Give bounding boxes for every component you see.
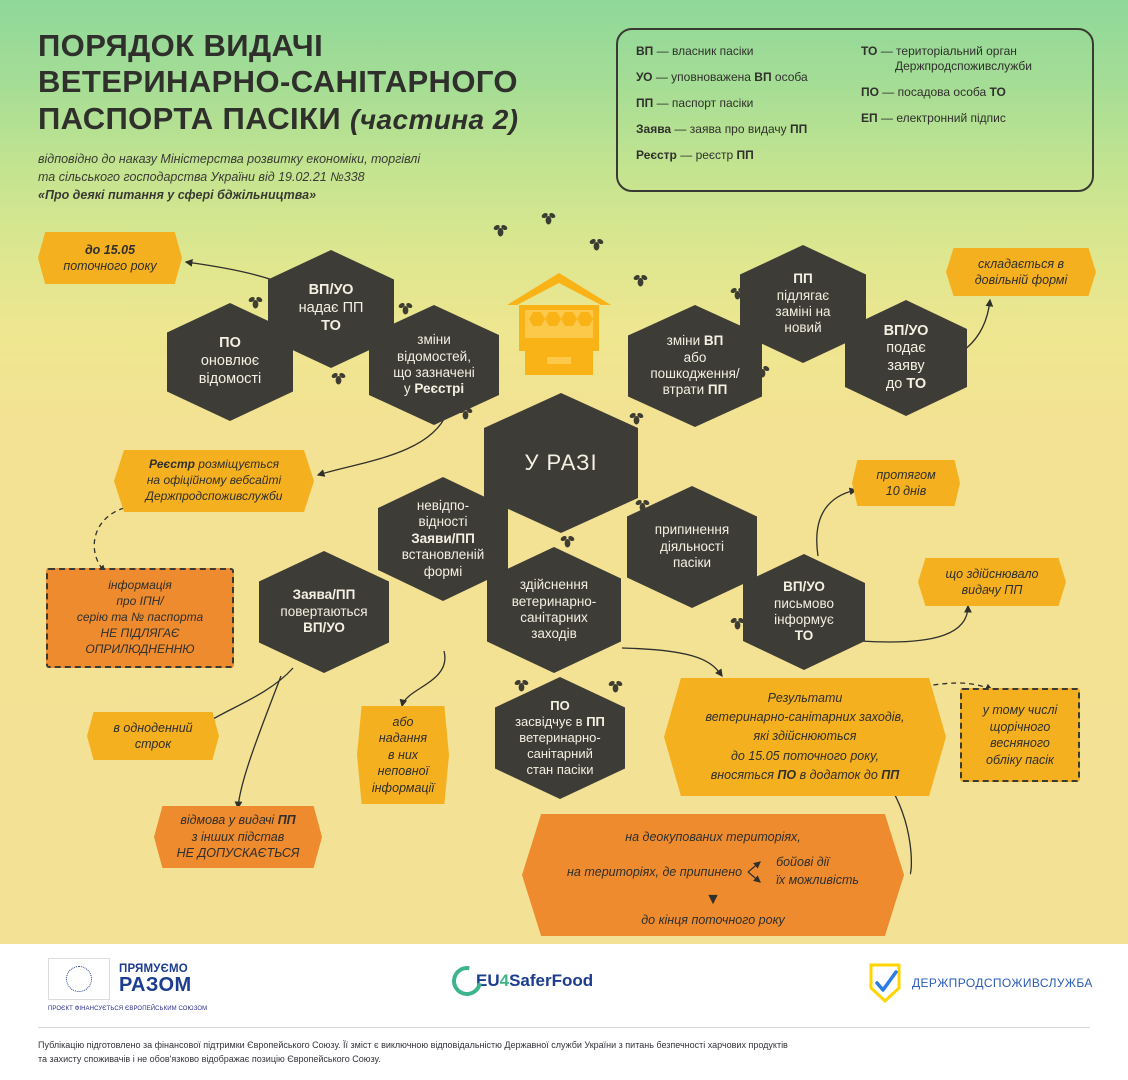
tag-ipn-not-published: інформація про ІПН/ серію та № паспорта … [46,568,234,668]
disclaimer-line-2: та захисту споживачів і не обов'язково в… [38,1053,1098,1067]
tag-incomplete-information: або надання в них неповної інформації [357,706,449,804]
tag-one-day-term: в одноденний строк [87,712,219,760]
beehive-icon [503,271,615,381]
bee-icon [588,236,605,253]
tag-registry-website: Реєстр розміщується на офіційному вебсай… [114,450,314,512]
hexagon-application-returned: Заява/ПП повертаються ВП/УО [259,551,389,673]
eu-together-logo: ПРЯМУЄМО РАЗОМ [48,958,192,1000]
legend-column-left: ВП — власник пасіки УО — уповноважена ВП… [636,44,851,180]
abbreviation-legend: ВП — власник пасіки УО — уповноважена ВП… [616,28,1094,192]
tag-within-10-days: протягом 10 днів [852,460,960,506]
legend-item-zayava: Заява — заява про видачу ПП [636,122,851,137]
subtitle: відповідно до наказу Міністерства розвит… [38,150,608,204]
bee-icon [628,410,645,427]
bee-icon [247,294,264,311]
bee-icon [607,678,624,695]
bee-icon [492,222,509,239]
tag-results-of-measures: Результати ветеринарно-санітарних заході… [664,678,946,796]
derzh-label: ДЕРЖПРОДСПОЖИВСЛУЖБА [912,976,1093,990]
derzhprodspozhyvsluzhba-logo: ДЕРЖПРОДСПОЖИВСЛУЖБА [868,962,1093,1004]
disclaimer-line-1: Публікацію підготовлено за фінансової пі… [38,1039,1098,1053]
eu4saferfood-logo: EU4SaferFood [452,966,593,996]
deocc-line-1: на деокупованих територіях, [540,830,886,844]
bee-icon [632,272,649,289]
tag-who-issued-pp: що здійснювало видачу ПП [918,558,1066,606]
deocc-line-3: до кінця поточного року [540,913,886,927]
legend-item-to: ТО — територіальний орган Держпродспожив… [861,44,1076,74]
title-line-1: ПОРЯДОК ВИДАЧІ [38,28,608,64]
bee-icon [540,210,557,227]
subtitle-line-3: «Про деякі питання у сфері бджільництва» [38,186,608,204]
legend-item-reestr: Реєстр — реєстр ПП [636,148,851,163]
title-line-3: ПАСПОРТА ПАСІКИ (частина 2) [38,101,608,137]
bee-icon [513,677,530,694]
legend-item-uo: УО — уповноважена ВП особа [636,70,851,85]
title-part-label: (частина 2) [350,104,518,135]
page-title: ПОРЯДОК ВИДАЧІ ВЕТЕРИНАРНО-САНІТАРНОГО П… [38,28,608,204]
eu-logo-line-2: РАЗОМ [119,975,192,996]
legend-column-right: ТО — територіальний орган Держпродспожив… [851,44,1076,180]
footer-logos: ПРЯМУЄМО РАЗОМ ПРОЄКТ ФІНАНСУЄТЬСЯ ЄВРОП… [0,944,1128,1022]
tag-refusal-not-allowed: відмова у видачі ПП з інших підстав НЕ Д… [154,806,322,868]
deocc-branch-labels: бойові дії їх можливість [776,854,859,889]
subtitle-line-1: відповідно до наказу Міністерства розвит… [38,150,608,168]
eu-logo-subtext: ПРОЄКТ ФІНАНСУЄТЬСЯ ЄВРОПЕЙСЬКИМ СОЮЗОМ [48,1006,207,1012]
safer-food-wordmark: EU4SaferFood [476,971,593,991]
safer-food-ring-icon [446,960,488,1002]
legend-item-vp: ВП — власник пасіки [636,44,851,59]
tag-free-form: складається в довільній формі [946,248,1096,296]
tag-spring-count: у тому числі щорічного весняного обліку … [960,688,1080,782]
infographic-canvas: ПОРЯДОК ВИДАЧІ ВЕТЕРИНАРНО-САНІТАРНОГО П… [0,0,1128,944]
eu-logo-line-1: ПРЯМУЄМО [119,963,192,975]
deocc-line-2-row: на територіях, де припинено бойові дії ї… [540,854,886,889]
hexagon-po-certifies-state: ПО засвідчує в ПП ветеринарно- санітарни… [495,677,625,799]
legend-item-pp: ПП — паспорт пасіки [636,96,851,111]
legend-item-ep: ЕП — електронний підпис [861,111,1076,126]
deocc-line-2: на територіях, де припинено [567,865,742,879]
eu-flag-icon [48,958,110,1000]
down-arrow-icon: ▼ [540,895,886,905]
footer-divider [38,1027,1090,1028]
bee-icon [330,370,347,387]
bee-icon [559,533,576,550]
hexagon-vpuo-informs-to: ВП/УО письмово інформує ТО [743,554,865,670]
footer: ПРЯМУЄМО РАЗОМ ПРОЄКТ ФІНАНСУЄТЬСЯ ЄВРОП… [0,944,1128,1080]
shield-check-icon [868,962,902,1004]
bee-icon [397,300,414,317]
disclaimer-text: Публікацію підготовлено за фінансової пі… [38,1039,1098,1067]
infographic-page: ПОРЯДОК ВИДАЧІ ВЕТЕРИНАРНО-САНІТАРНОГО П… [0,0,1128,1080]
tag-till-15-05: до 15.05 поточного року [38,232,182,284]
title-line-2: ВЕТЕРИНАРНО-САНІТАРНОГО [38,64,608,100]
legend-item-po: ПО — посадова особа ТО [861,85,1076,100]
branch-arrows-icon [746,855,772,889]
subtitle-line-2: та сільського господарства України від 1… [38,168,608,186]
tag-deoccupied-territories: на деокупованих територіях, на територія… [522,814,904,936]
eu-stars-circle [66,966,92,992]
